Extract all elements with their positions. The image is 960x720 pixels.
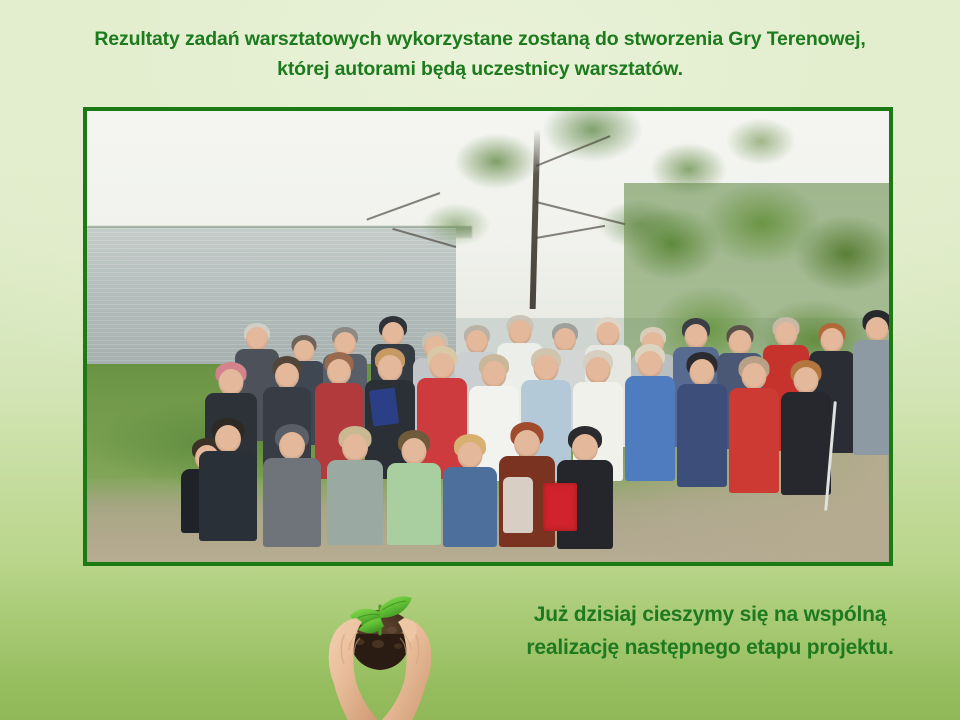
- photo-crowd: [87, 111, 889, 562]
- page-title: Rezultaty zadań warsztatowych wykorzysta…: [0, 24, 960, 84]
- photo-red-bag: [543, 483, 577, 531]
- photo-person: [625, 347, 675, 481]
- photo-person: [853, 313, 889, 455]
- photo-person: [199, 421, 257, 541]
- photo-person: [443, 437, 497, 547]
- photo-person: [387, 433, 441, 545]
- title-line-2: której autorami będą uczestnicy warsztat…: [0, 54, 960, 84]
- caption-line-2: realizację następnego etapu projektu.: [470, 631, 950, 664]
- photo-person: [327, 429, 383, 545]
- slide-canvas: Rezultaty zadań warsztatowych wykorzysta…: [0, 0, 960, 720]
- photo-white-bag: [503, 477, 533, 533]
- photo-blue-folder: [369, 388, 399, 427]
- title-line-1: Rezultaty zadań warsztatowych wykorzysta…: [0, 24, 960, 54]
- photo-person: [729, 359, 779, 493]
- photo-person: [677, 355, 727, 487]
- photo-person: [781, 363, 831, 495]
- hands-holding-seedling-image: [300, 560, 460, 720]
- caption-line-1: Już dzisiaj cieszymy się na wspólną: [470, 598, 950, 631]
- photo-person: [263, 427, 321, 547]
- photo-scene: [87, 111, 889, 562]
- group-photo: [83, 107, 893, 566]
- caption: Już dzisiaj cieszymy się na wspólną real…: [470, 598, 950, 664]
